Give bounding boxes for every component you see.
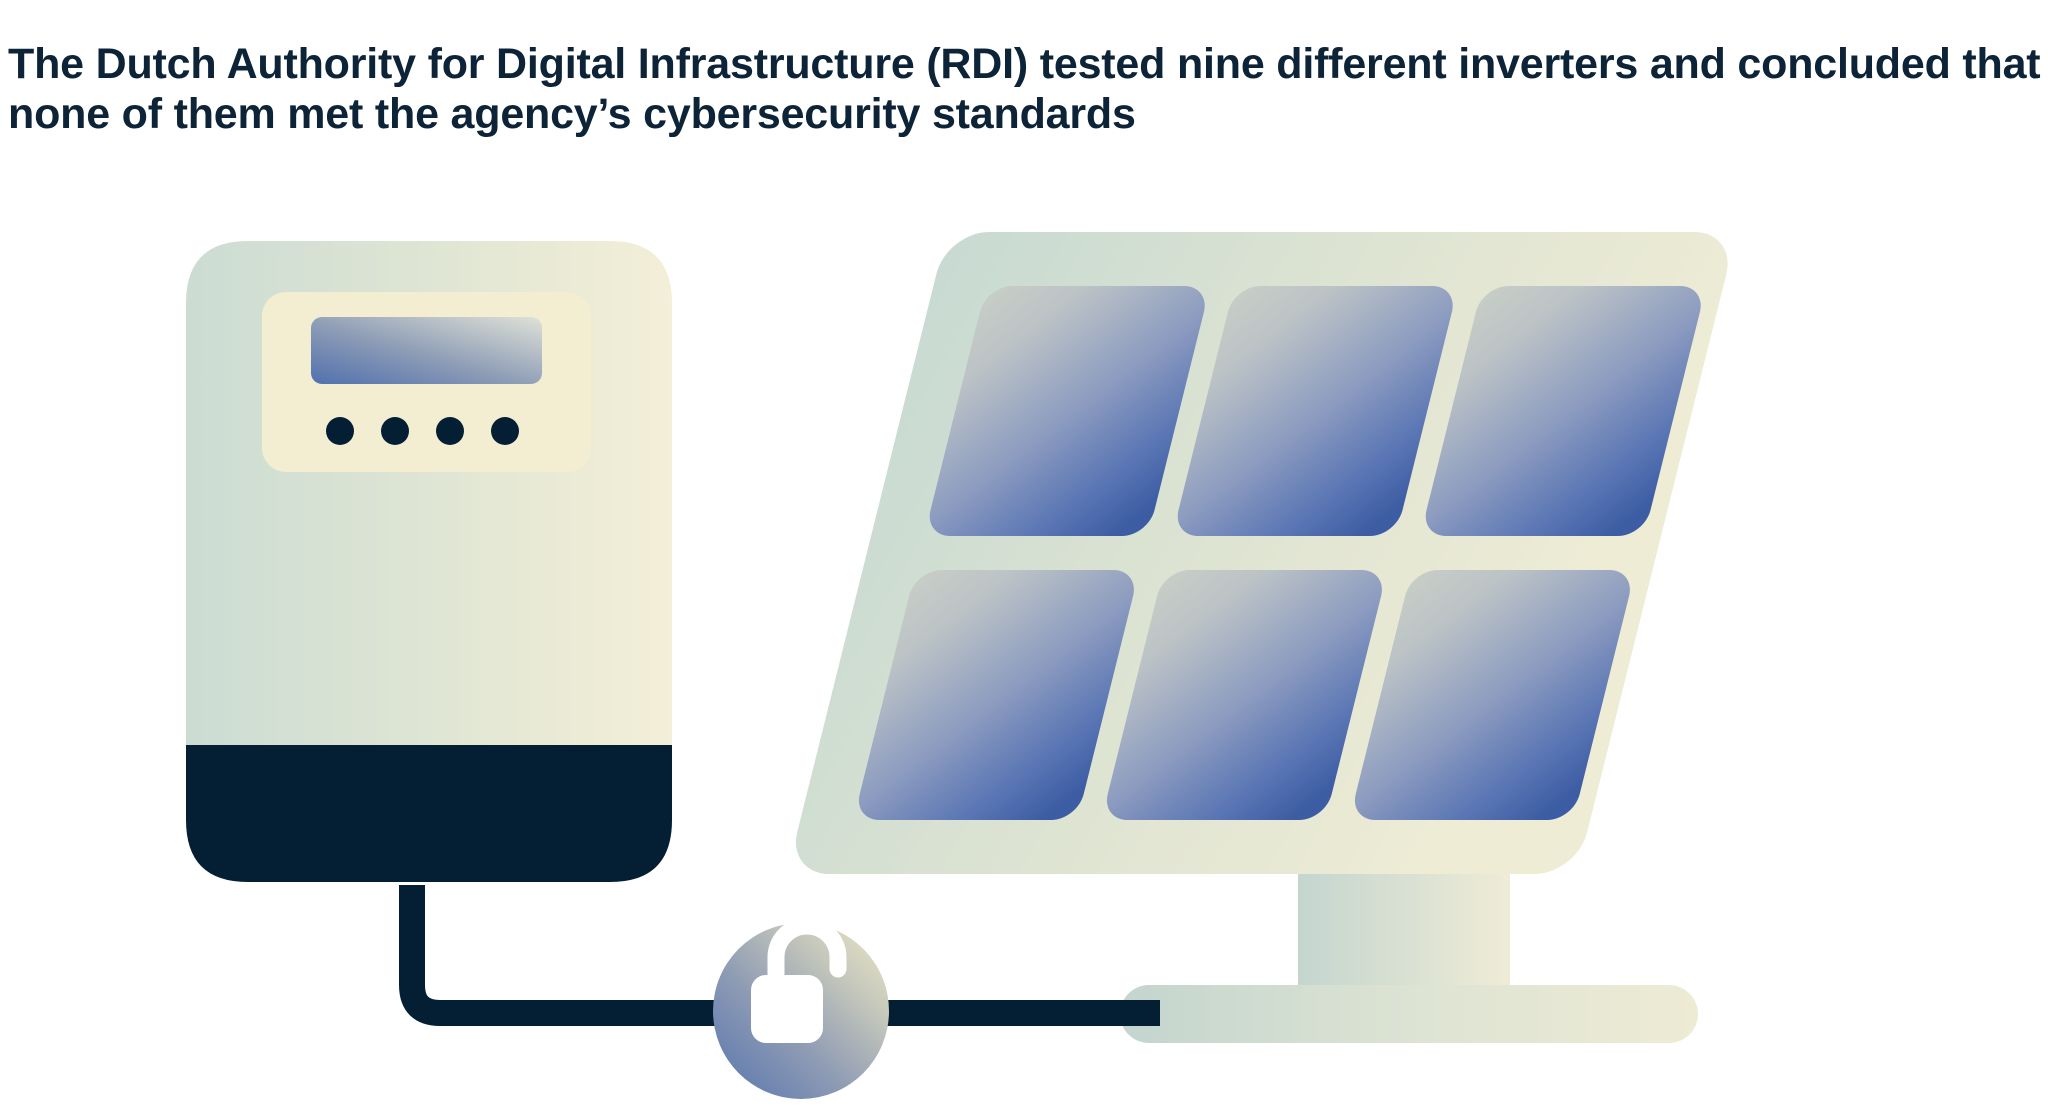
solar-panel-stand xyxy=(1298,870,1510,1000)
unlocked-padlock-badge[interactable] xyxy=(713,923,889,1099)
solar-panel-assembly xyxy=(787,232,1737,1043)
solar-panel xyxy=(787,232,1737,874)
inverter-button[interactable] xyxy=(436,417,464,445)
inverter-button[interactable] xyxy=(491,417,519,445)
page-root: The Dutch Authority for Digital Infrastr… xyxy=(0,0,2048,1109)
padlock-body-icon xyxy=(751,975,823,1043)
inverter-button[interactable] xyxy=(381,417,409,445)
inverter-screen xyxy=(311,317,542,384)
solar-inverter-cybersecurity-illustration xyxy=(0,0,2048,1109)
inverter-button[interactable] xyxy=(326,417,354,445)
inverter-base xyxy=(186,745,672,882)
illustration-stage xyxy=(0,0,2048,1109)
inverter xyxy=(186,241,672,882)
solar-panel-foot xyxy=(1120,985,1698,1043)
